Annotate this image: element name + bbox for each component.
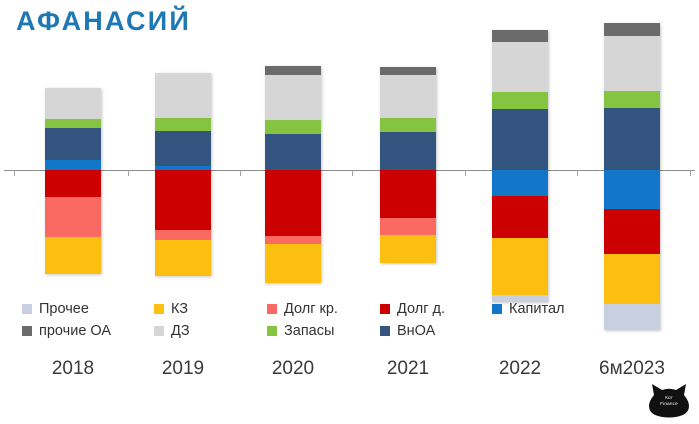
- axis-tick-0: [14, 170, 15, 176]
- bar-segment-vnoa-6м2023[interactable]: [604, 108, 660, 170]
- bar-segment-dz-2021[interactable]: [380, 75, 436, 118]
- bar-stack-6м2023[interactable]: [604, 23, 660, 330]
- bar-segment-kapital_neg-2022[interactable]: [492, 170, 548, 196]
- bar-stack-2021[interactable]: [380, 67, 436, 263]
- bar-segment-dolg_d-2018[interactable]: [45, 170, 101, 197]
- legend-item-dolg_d[interactable]: Долг д.: [380, 302, 445, 317]
- bar-segment-prochie_oa-2020[interactable]: [265, 66, 321, 75]
- legend-swatch-kz: [154, 304, 164, 314]
- legend-label-kz: КЗ: [171, 302, 188, 317]
- legend-swatch-dz: [154, 326, 164, 336]
- bar-segment-zapasy-2019[interactable]: [155, 118, 211, 131]
- legend-item-kz[interactable]: КЗ: [154, 302, 188, 317]
- bar-stack-2019[interactable]: [155, 73, 211, 276]
- bar-segment-dz-2018[interactable]: [45, 88, 101, 119]
- category-label-2021: 2021: [363, 358, 453, 380]
- bar-segment-prochie_oa-2022[interactable]: [492, 30, 548, 42]
- legend-swatch-dolg_kr: [267, 304, 277, 314]
- category-label-6м2023: 6м2023: [587, 358, 677, 380]
- legend-item-zapasy[interactable]: Запасы: [267, 324, 334, 339]
- legend-item-dolg_kr[interactable]: Долг кр.: [267, 302, 338, 317]
- bar-segment-kz-2021[interactable]: [380, 235, 436, 263]
- bar-stack-2020[interactable]: [265, 66, 321, 283]
- chart-legend: Прочеепрочие ОАКЗДЗДолг кр.ЗапасыДолг д.…: [22, 300, 642, 345]
- legend-label-prochie_oa: прочие ОА: [39, 324, 111, 339]
- bar-segment-zapasy-2022[interactable]: [492, 92, 548, 109]
- legend-item-prochee[interactable]: Прочее: [22, 302, 89, 317]
- bar-stack-2018[interactable]: [45, 88, 101, 274]
- bar-segment-vnoa-2018[interactable]: [45, 128, 101, 160]
- bar-segment-prochie_oa-6м2023[interactable]: [604, 23, 660, 36]
- kot-finance-cat-logo: Кот Finance: [648, 383, 690, 419]
- legend-swatch-dolg_d: [380, 304, 390, 314]
- bar-segment-zapasy-6м2023[interactable]: [604, 91, 660, 108]
- plot-area: [0, 0, 699, 290]
- bar-segment-dolg_kr-2021[interactable]: [380, 218, 436, 235]
- bar-stack-2022[interactable]: [492, 30, 548, 302]
- category-label-2018: 2018: [28, 358, 118, 380]
- legend-item-prochie_oa[interactable]: прочие ОА: [22, 324, 111, 339]
- bar-segment-dolg_d-2022[interactable]: [492, 196, 548, 238]
- bar-segment-kz-2020[interactable]: [265, 244, 321, 283]
- legend-label-dz: ДЗ: [171, 324, 190, 339]
- bar-segment-kz-2022[interactable]: [492, 238, 548, 295]
- bar-segment-dolg_d-6м2023[interactable]: [604, 209, 660, 254]
- bar-segment-dolg_kr-2019[interactable]: [155, 230, 211, 240]
- bar-segment-dz-2022[interactable]: [492, 42, 548, 92]
- bar-segment-vnoa-2022[interactable]: [492, 109, 548, 170]
- category-label-2019: 2019: [138, 358, 228, 380]
- axis-tick-4: [465, 170, 466, 176]
- bar-segment-kapital-2018[interactable]: [45, 160, 101, 170]
- legend-label-dolg_kr: Долг кр.: [284, 302, 338, 317]
- category-label-2020: 2020: [248, 358, 338, 380]
- bar-segment-dolg_kr-2018[interactable]: [45, 197, 101, 237]
- bar-segment-zapasy-2021[interactable]: [380, 118, 436, 132]
- zero-axis-line: [4, 170, 695, 171]
- axis-tick-1: [128, 170, 129, 176]
- legend-swatch-vnoa: [380, 326, 390, 336]
- legend-label-prochee: Прочее: [39, 302, 89, 317]
- bar-segment-dz-2020[interactable]: [265, 75, 321, 120]
- bar-segment-dolg_d-2019[interactable]: [155, 170, 211, 230]
- bar-segment-dolg_d-2020[interactable]: [265, 170, 321, 236]
- bar-segment-vnoa-2021[interactable]: [380, 132, 436, 170]
- legend-label-zapasy: Запасы: [284, 324, 334, 339]
- bar-segment-vnoa-2020[interactable]: [265, 134, 321, 170]
- axis-tick-5: [577, 170, 578, 176]
- legend-swatch-prochie_oa: [22, 326, 32, 336]
- cat-head-icon: [648, 383, 690, 419]
- chart-root: АФАНАСИЙ 201820192020202120226м2023 Проч…: [0, 0, 699, 423]
- legend-item-kapital[interactable]: Капитал: [492, 302, 564, 317]
- legend-swatch-zapasy: [267, 326, 277, 336]
- bar-segment-kz-2018[interactable]: [45, 237, 101, 274]
- bar-segment-dolg_kr-2020[interactable]: [265, 236, 321, 244]
- category-label-2022: 2022: [475, 358, 565, 380]
- bar-segment-kapital_neg-6м2023[interactable]: [604, 170, 660, 209]
- bar-segment-dz-2019[interactable]: [155, 73, 211, 118]
- bar-segment-dolg_d-2021[interactable]: [380, 170, 436, 218]
- axis-tick-2: [240, 170, 241, 176]
- legend-label-vnoa: ВнОА: [397, 324, 435, 339]
- bar-segment-prochie_oa-2021[interactable]: [380, 67, 436, 75]
- bar-segment-zapasy-2018[interactable]: [45, 119, 101, 128]
- axis-tick-6: [690, 170, 691, 176]
- legend-item-dz[interactable]: ДЗ: [154, 324, 190, 339]
- axis-tick-3: [352, 170, 353, 176]
- bar-segment-kz-2019[interactable]: [155, 240, 211, 276]
- legend-swatch-prochee: [22, 304, 32, 314]
- legend-item-vnoa[interactable]: ВнОА: [380, 324, 435, 339]
- bar-segment-kz-6м2023[interactable]: [604, 254, 660, 304]
- legend-swatch-kapital: [492, 304, 502, 314]
- legend-label-dolg_d: Долг д.: [397, 302, 445, 317]
- legend-label-kapital: Капитал: [509, 302, 564, 317]
- bar-segment-dz-6м2023[interactable]: [604, 36, 660, 91]
- bar-segment-vnoa-2019[interactable]: [155, 131, 211, 166]
- bar-segment-zapasy-2020[interactable]: [265, 120, 321, 134]
